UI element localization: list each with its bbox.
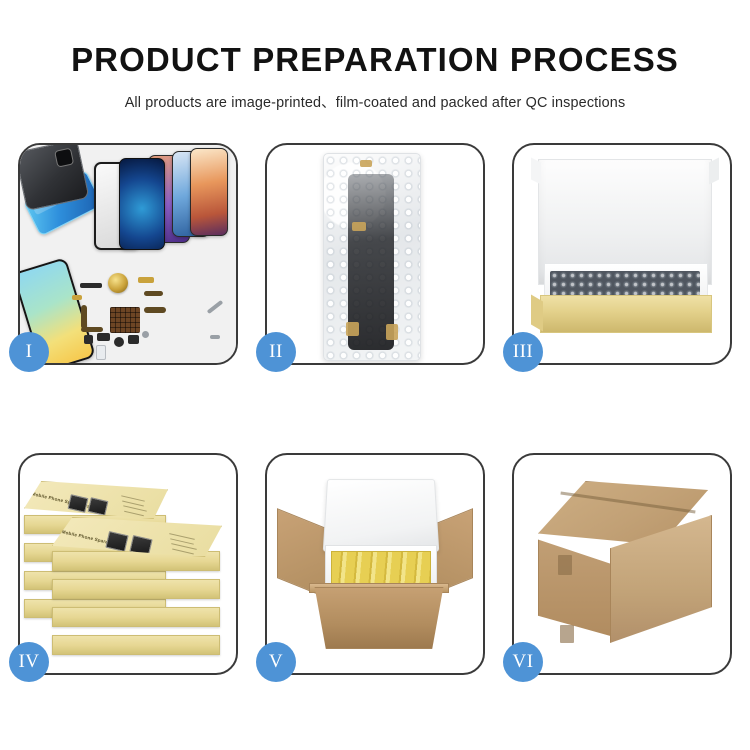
step-6-image — [514, 455, 730, 673]
page-subtitle: All products are image-printed、film-coat… — [0, 76, 750, 112]
speaker-coil-part — [108, 273, 128, 293]
retail-box-stack: Mobile Phone Spare Parts Mobile Phone Sp… — [20, 455, 236, 673]
spare-parts-illustration — [20, 145, 236, 363]
process-step-card-6[interactable]: VI — [512, 453, 732, 675]
process-step-card-4[interactable]: Mobile Phone Spare Parts Mobile Phone Sp… — [18, 453, 238, 675]
process-step-card-3[interactable]: III — [512, 143, 732, 365]
step-badge-6: VI — [503, 642, 543, 682]
box-spec-line — [124, 511, 144, 516]
process-step-card-2[interactable]: II — [265, 143, 485, 365]
page-header: PRODUCT PREPARATION PROCESS All products… — [0, 0, 750, 112]
top-box-lid-rear: Mobile Phone Spare Parts — [24, 481, 168, 519]
page-title: PRODUCT PREPARATION PROCESS — [0, 0, 750, 76]
flex-cable-part — [144, 291, 163, 296]
display-panel-orange — [190, 148, 228, 236]
step-badge-3: III — [503, 332, 543, 372]
small-part — [72, 295, 82, 300]
small-part — [97, 333, 110, 341]
box-window-graphic — [68, 494, 89, 513]
process-steps-grid: I II III — [18, 143, 732, 675]
screwdriver-tool — [210, 335, 220, 339]
step-4-image: Mobile Phone Spare Parts Mobile Phone Sp… — [20, 455, 236, 673]
stacked-box — [52, 579, 220, 599]
process-step-card-5[interactable]: V — [265, 453, 485, 675]
carton-hand-hole — [560, 625, 574, 643]
box-window-graphic — [105, 531, 128, 552]
step-1-image — [20, 145, 236, 363]
kraft-box-base — [540, 295, 712, 333]
tape-piece — [352, 222, 366, 231]
foam-lid-open — [323, 479, 439, 551]
tape-piece — [346, 322, 359, 336]
bubble-wrap-bag — [323, 153, 421, 361]
tape-piece — [360, 160, 372, 167]
carton-front-panel — [309, 587, 449, 649]
small-part — [128, 335, 139, 344]
camera-module-part — [114, 337, 124, 347]
step-2-image — [267, 145, 483, 363]
step-3-image — [514, 145, 730, 363]
small-part — [96, 345, 106, 360]
step-badge-2: II — [256, 332, 296, 372]
flex-cable-part — [81, 327, 103, 332]
step-badge-5: V — [256, 642, 296, 682]
flex-cable-part — [81, 305, 87, 329]
small-part — [84, 335, 93, 344]
tape-piece — [386, 324, 398, 340]
process-step-card-1[interactable]: I — [18, 143, 238, 365]
box-spec-line — [172, 549, 194, 555]
stacked-box — [52, 607, 220, 627]
display-panel-blue — [119, 158, 165, 250]
carton-hand-hole — [558, 555, 572, 575]
step-badge-4: IV — [9, 642, 49, 682]
small-part — [138, 277, 154, 283]
step-5-image — [267, 455, 483, 673]
flex-cable-part — [144, 307, 166, 313]
logic-chip-part — [110, 307, 140, 333]
carton-left-panel — [538, 531, 614, 637]
box-window-graphic — [88, 497, 109, 516]
stacked-box — [52, 635, 220, 655]
step-badge-1: I — [9, 332, 49, 372]
small-part — [142, 331, 149, 338]
tweezers-tool — [207, 300, 224, 314]
small-part — [80, 283, 102, 288]
